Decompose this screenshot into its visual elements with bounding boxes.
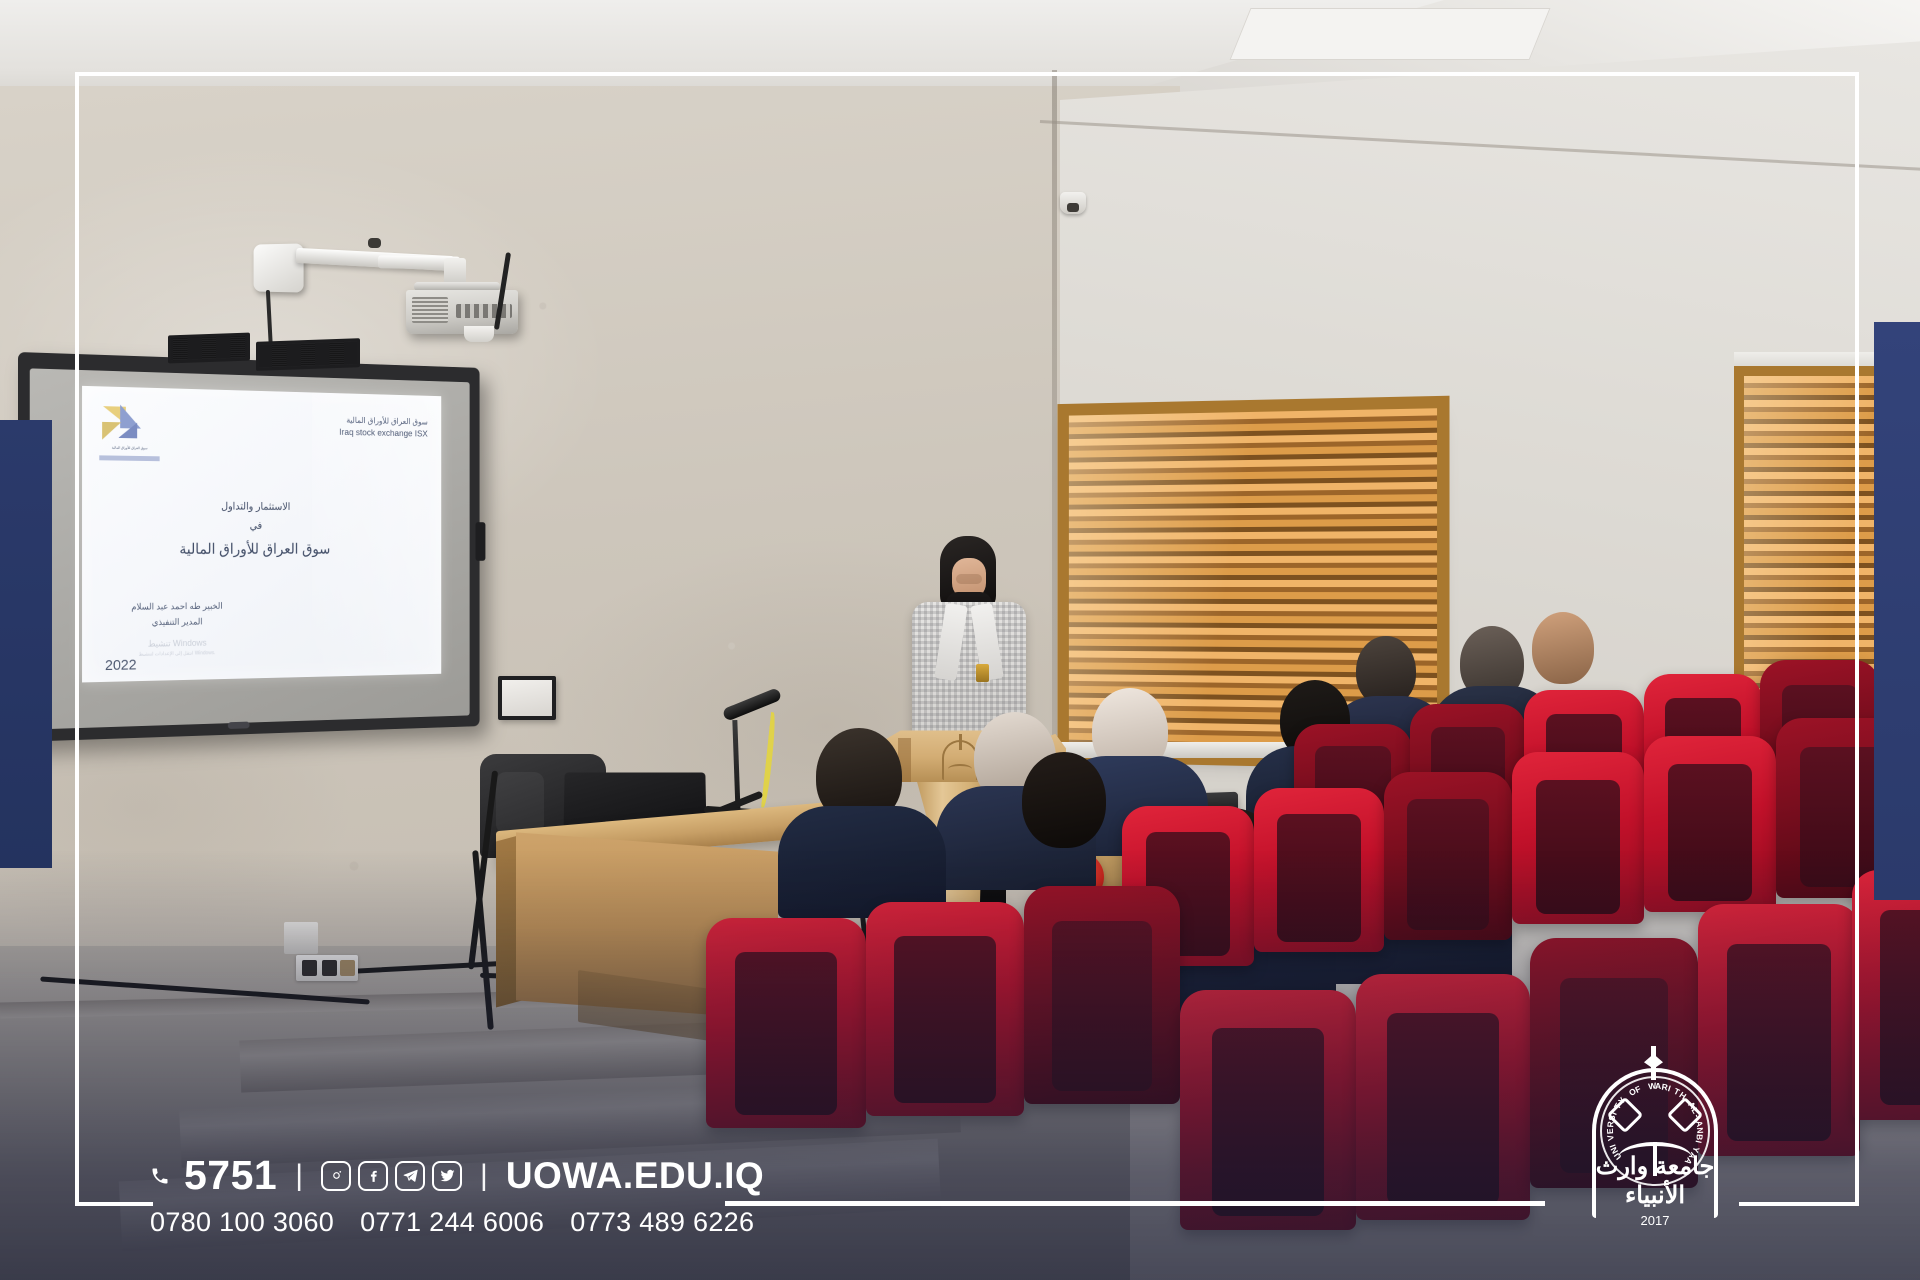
footer-contact-bar: 5751 | | UOWA.EDU.IQ 0780 100 306 — [150, 1152, 764, 1238]
slide-year: 2022 — [105, 657, 137, 674]
telegram-icon[interactable] — [395, 1161, 425, 1191]
slide-title-line-1: الاستثمار والتداول — [82, 497, 419, 519]
social-links — [321, 1161, 462, 1191]
wall-picture-frame — [498, 676, 556, 720]
footer-separator-2: | — [476, 1159, 492, 1193]
navy-accent-bar-left — [0, 420, 52, 868]
audience-head — [1532, 612, 1594, 684]
website-url[interactable]: UOWA.EDU.IQ — [506, 1155, 764, 1197]
slide-title-line-3: سوق العراق للأوراق المالية — [82, 536, 419, 564]
presenter-title: المدير التنفيذي — [107, 613, 246, 631]
speaker-left — [168, 333, 250, 364]
smoke-detector-icon — [1060, 192, 1086, 214]
screenshot-root: سوق العراق للأوراق المالية سوق العراق لل… — [0, 0, 1920, 1280]
slide-title-line-2: في — [82, 516, 419, 536]
slide-header: سوق العراق للأوراق المالية Iraq stock ex… — [339, 414, 427, 442]
presenter-name: الخبير طه احمد عبد السلام — [107, 598, 246, 615]
logo-founded-year: 2017 — [1582, 1213, 1728, 1228]
phone-number-list: 0780 100 3060 0771 244 6006 0773 489 622… — [150, 1207, 764, 1238]
phone-number-3[interactable]: 0773 489 6226 — [570, 1207, 754, 1238]
whiteboard-label — [228, 722, 250, 729]
projected-slide: سوق العراق للأوراق المالية سوق العراق لل… — [82, 386, 441, 683]
logo-arabic-name: جامعة وارث الأنبياء — [1582, 1152, 1728, 1210]
whiteboard-side-tab — [475, 522, 485, 561]
isx-logo-caption: سوق العراق للأوراق المالية — [99, 445, 159, 451]
interactive-whiteboard: سوق العراق للأوراق المالية سوق العراق لل… — [18, 352, 480, 742]
isx-logo-icon: سوق العراق للأوراق المالية — [97, 402, 161, 460]
ceiling-tile — [1229, 8, 1550, 60]
slide-presenter: الخبير طه احمد عبد السلام المدير التنفيذ… — [107, 598, 246, 631]
slide-title: الاستثمار والتداول في سوق العراق للأوراق… — [82, 497, 419, 565]
footer-divider-line — [725, 1201, 1545, 1204]
twitter-icon[interactable] — [432, 1161, 462, 1191]
id-badge — [976, 664, 989, 682]
short-phone-number[interactable]: 5751 — [184, 1152, 277, 1199]
projector-lens-icon — [464, 326, 494, 342]
projector-arm-knob — [368, 238, 381, 248]
phone-number-2[interactable]: 0771 244 6006 — [360, 1207, 544, 1238]
footer-separator: | — [291, 1159, 307, 1193]
audience-head — [1022, 752, 1106, 848]
whiteboard-surface: سوق العراق للأوراق المالية سوق العراق لل… — [30, 368, 470, 729]
university-logo: UNIVERSITY OF WARITH AL-ANBIYAA جامعة وا… — [1570, 1046, 1740, 1232]
phone-icon — [150, 1164, 170, 1188]
instagram-icon[interactable] — [321, 1161, 351, 1191]
speaker-right — [256, 338, 360, 371]
facebook-icon[interactable] — [358, 1161, 388, 1191]
phone-number-1[interactable]: 0780 100 3060 — [150, 1207, 334, 1238]
slide-header-english: Iraq stock exchange ISX — [339, 426, 427, 442]
navy-accent-bar-right — [1874, 322, 1920, 900]
